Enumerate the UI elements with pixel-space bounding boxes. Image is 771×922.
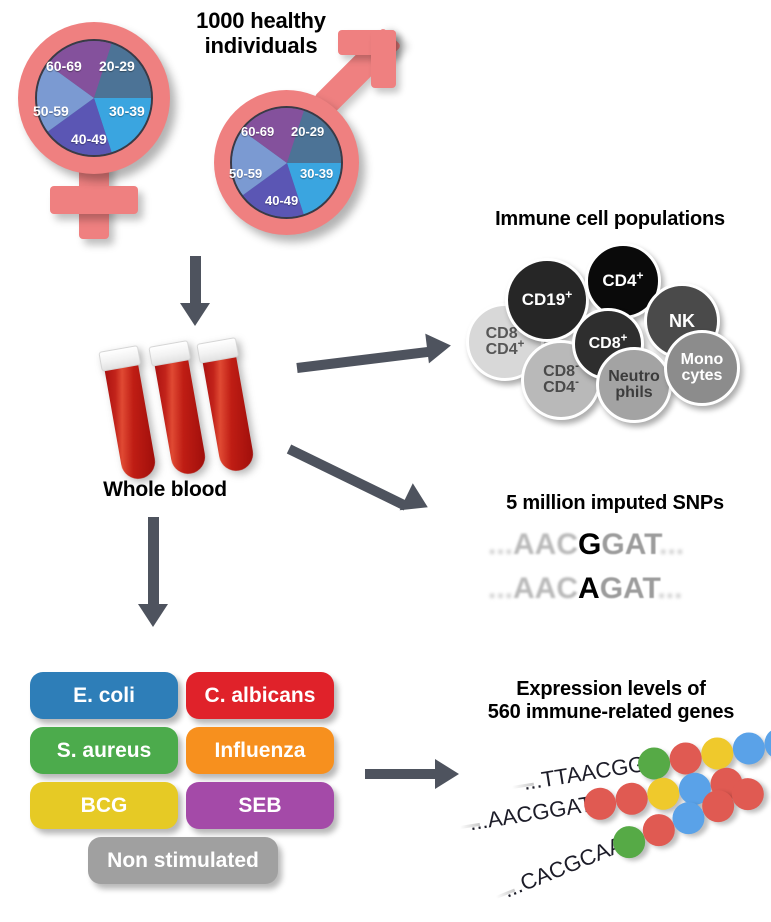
stimulus-label: C. albicans	[205, 684, 316, 708]
diagram-canvas: 1000 healthy individuals 20-29 30-39 40-…	[0, 0, 771, 922]
stimulus-label: Influenza	[214, 739, 305, 763]
stimulus-bcg[interactable]: BCG	[30, 782, 178, 829]
immune-cells-group: CD8+ CD4+ CD19+ CD8- CD4- CD4+ NK C	[0, 0, 771, 440]
stimulus-s-aureus[interactable]: S. aureus	[30, 727, 178, 774]
stimulus-non-stimulated[interactable]: Non stimulated	[88, 837, 278, 884]
cell-label: CD19+	[522, 291, 573, 308]
stimulus-label: SEB	[238, 794, 281, 818]
snp-sequence-block: ...AACGGAT... ...AACAGAT...	[470, 528, 760, 618]
snp-prefix: ...	[488, 528, 513, 561]
snp-suffix: ...	[659, 528, 684, 561]
cell-label: CD8- CD4-	[543, 364, 579, 397]
cell-monocytes: Mono cytes	[664, 330, 740, 406]
gene-bead	[762, 725, 771, 762]
gene-bead	[731, 730, 768, 767]
snp-prefix: ...	[488, 572, 513, 605]
stimulus-influenza[interactable]: Influenza	[186, 727, 334, 774]
stimulus-c-albicans[interactable]: C. albicans	[186, 672, 334, 719]
stimulus-label: Non stimulated	[107, 849, 259, 873]
strand-sequence: ...CACGCAA	[500, 832, 628, 904]
cell-label: Mono cytes	[681, 352, 724, 385]
snps-title: 5 million imputed SNPs	[470, 492, 760, 515]
stimuli-group: E. coli C. albicans S. aureus Influenza …	[30, 672, 350, 902]
genes-title: Expression levels of 560 immune-related …	[455, 678, 767, 724]
snp-context-right: GAT	[601, 528, 659, 561]
snp-suffix: ...	[657, 572, 682, 605]
snp-context-right: GAT	[600, 572, 658, 605]
cell-label: CD4+	[602, 272, 643, 289]
stimulus-label: BCG	[81, 794, 128, 818]
stimulus-e-coli[interactable]: E. coli	[30, 672, 178, 719]
snp-line-allele-g: ...AACGGAT...	[488, 528, 684, 562]
snp-highlight-base: G	[578, 528, 601, 561]
snp-line-allele-a: ...AACAGAT...	[488, 572, 682, 606]
snp-context-left: AAC	[513, 572, 578, 605]
whole-blood-label: Whole blood	[75, 478, 255, 502]
genes-title-line2: 560 immune-related genes	[455, 701, 767, 724]
gene-strands-group: ...TTAACGG ...AACGGAT ...CACGCAA	[440, 730, 771, 915]
stimulus-label: E. coli	[73, 684, 135, 708]
genes-title-line1: Expression levels of	[455, 678, 767, 701]
snp-context-left: AAC	[513, 528, 578, 561]
gene-bead	[613, 780, 650, 817]
cell-label: NK	[669, 312, 695, 330]
strand-sequence: ...AACGGAT	[468, 791, 595, 836]
cell-label: Neutro phils	[608, 369, 660, 402]
snp-highlight-base: A	[578, 572, 600, 605]
stimulus-seb[interactable]: SEB	[186, 782, 334, 829]
stimulus-label: S. aureus	[57, 739, 152, 763]
cell-neutrophils: Neutro phils	[596, 347, 672, 423]
